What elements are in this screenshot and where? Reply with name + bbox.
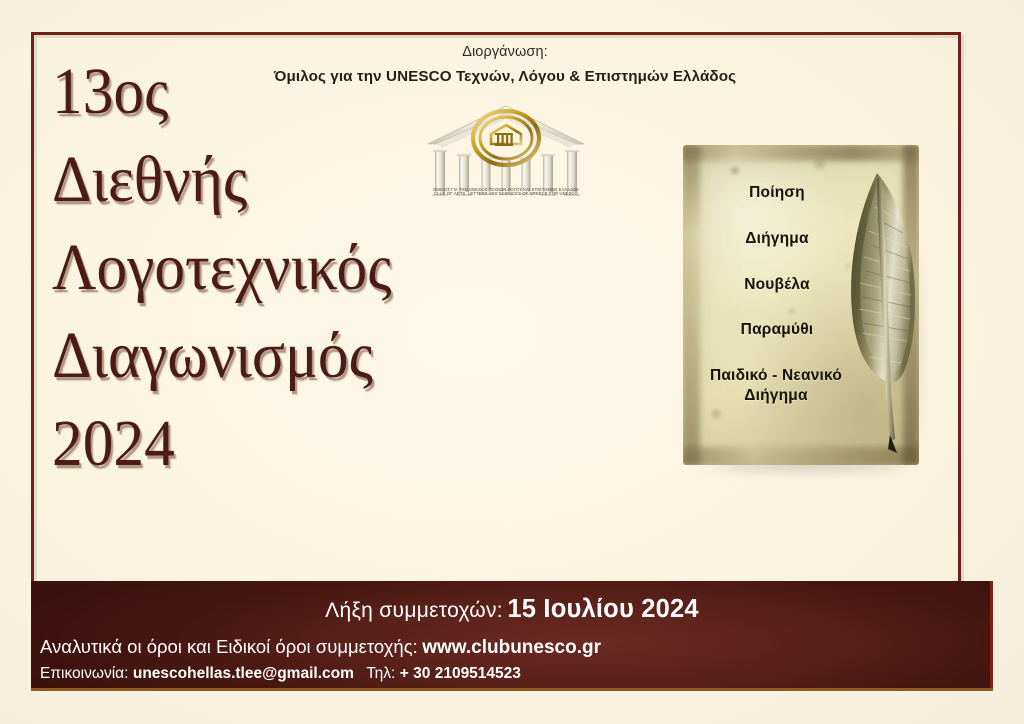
phone-label: Τηλ: [366,665,395,682]
footer-band: Λήξη συμμετοχών: 15 Ιουλίου 2024 Αναλυτι… [31,581,993,691]
logo-caption-english: CLUB OF ARTS, LETTERS AND SCIENCES OF GR… [424,192,588,197]
phone-value[interactable]: + 30 2109514523 [400,665,521,682]
unesco-club-logo: ΟΜΙΛΟΣ ΓΙΑ ΤΗΝ UNESCO ΤΕΧΝΩΝ ΛΟΓΟΥ ΚΑΙ Ε… [424,104,588,208]
poster-canvas: Διοργάνωση: Όμιλος για την UNESCO Τεχνών… [0,0,1024,724]
parchment-book: Ποίηση Διήγημα Νουβέλα Παραμύθι Παιδικό … [678,140,930,480]
title-line-4: Διαγωνισμός [52,312,387,400]
quill-feather-icon [831,167,919,457]
title-line-3: Λογοτεχνικός [52,224,387,312]
contact-email[interactable]: unescohellas.tlee@gmail.com [133,665,354,682]
deadline-value: 15 Ιουλίου 2024 [507,595,698,623]
parchment-edge-top [683,145,919,161]
deadline-line: Λήξη συμμετοχών: 15 Ιουλίου 2024 [31,595,993,624]
poster-title: 13ος Διεθνής Λογοτεχνικός Διαγωνισμός 20… [52,48,412,488]
greek-temple-icon [424,104,588,196]
terms-line: Αναλυτικά οι όροι και Ειδικοί όροι συμμε… [40,636,601,659]
deadline-label: Λήξη συμμετοχών: [325,599,503,622]
book-page: Ποίηση Διήγημα Νουβέλα Παραμύθι Παιδικό … [683,145,919,465]
contact-label: Επικοινωνία: [40,665,128,682]
website-link[interactable]: www.clubunesco.gr [422,637,601,658]
terms-label: Αναλυτικά οι όροι και Ειδικοί όροι συμμε… [40,636,418,657]
title-line-1: 13ος [52,48,387,136]
logo-caption: ΟΜΙΛΟΣ ΓΙΑ ΤΗΝ UNESCO ΤΕΧΝΩΝ ΛΟΓΟΥ ΚΑΙ Ε… [424,188,588,197]
title-line-5: 2024 [52,400,387,488]
contact-line: Επικοινωνία: unescohellas.tlee@gmail.com… [40,665,521,683]
title-line-2: Διεθνής [52,136,387,224]
